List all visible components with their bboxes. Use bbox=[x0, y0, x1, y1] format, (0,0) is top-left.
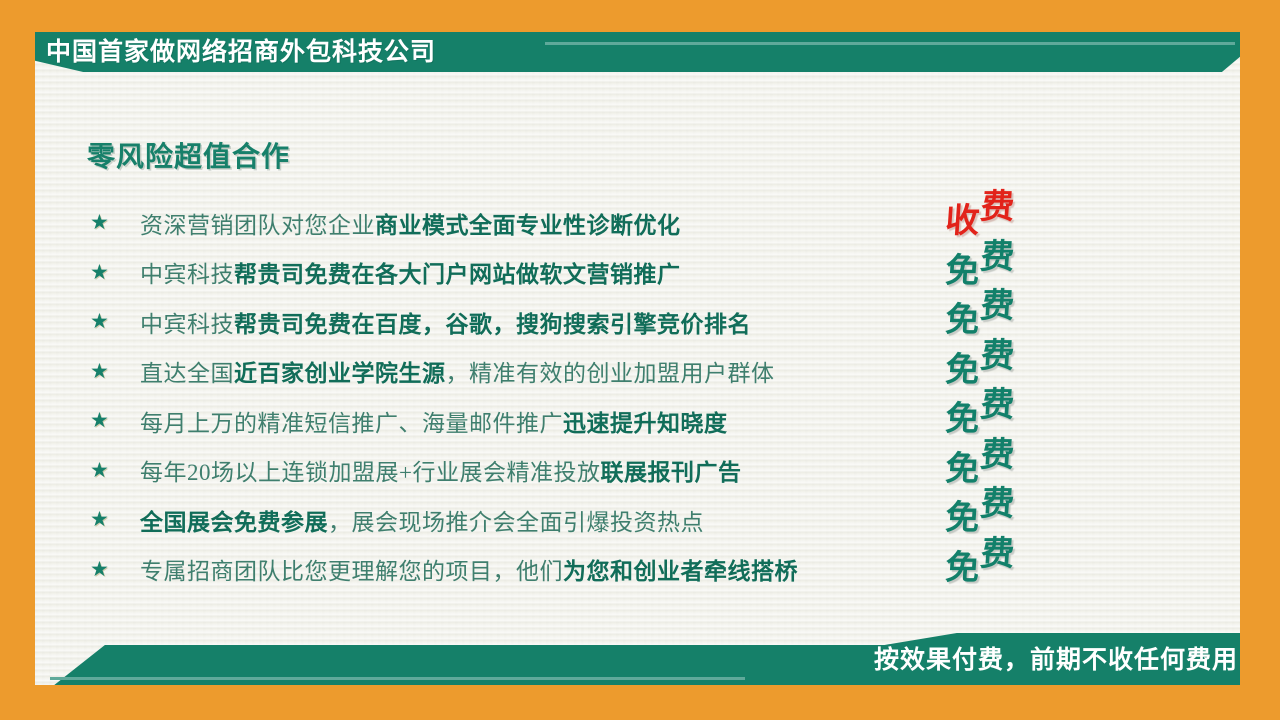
price-char-second: 费 bbox=[979, 191, 1015, 225]
benefit-text: 全国展会免费参展，展会现场推介会全面引爆投资热点 bbox=[140, 503, 704, 537]
price-char-second: 费 bbox=[979, 340, 1015, 374]
benefit-row: ★每月上万的精准短信推广、海量邮件推广迅速提升知晓度 bbox=[90, 396, 940, 446]
benefit-text-emphasis: 帮贵司免费在百度，谷歌，搜狗搜索引擎竞价排名 bbox=[234, 312, 751, 337]
benefits-list: ★资深营销团队对您企业商业模式全面专业性诊断优化★中宾科技帮贵司免费在各大门户网… bbox=[90, 198, 940, 594]
benefit-text-plain: 中宾科技 bbox=[140, 312, 234, 337]
benefit-text: 每月上万的精准短信推广、海量邮件推广迅速提升知晓度 bbox=[140, 404, 728, 438]
header-hairline-divider bbox=[545, 42, 1235, 45]
price-char-first: 免 bbox=[944, 304, 980, 338]
benefit-text-emphasis: 商业模式全面专业性诊断优化 bbox=[375, 213, 681, 238]
benefit-row: ★直达全国近百家创业学院生源，精准有效的创业加盟用户群体 bbox=[90, 347, 940, 397]
price-char-first: 免 bbox=[944, 403, 980, 437]
benefit-text: 专属招商团队比您更理解您的项目，他们为您和创业者牵线搭桥 bbox=[140, 552, 798, 586]
price-char-first: 收 bbox=[944, 205, 980, 239]
star-icon: ★ bbox=[90, 410, 140, 431]
benefit-text-plain: ，精准有效的创业加盟用户群体 bbox=[446, 361, 775, 386]
benefit-row: ★全国展会免费参展，展会现场推介会全面引爆投资热点 bbox=[90, 495, 940, 545]
star-icon: ★ bbox=[90, 262, 140, 283]
price-char-second: 费 bbox=[979, 488, 1015, 522]
benefit-text-plain: 中宾科技 bbox=[140, 262, 234, 287]
price-char-second: 费 bbox=[979, 389, 1015, 423]
benefit-text-plain: 每月上万的精准短信推广、海量邮件推广 bbox=[140, 411, 563, 436]
benefit-text-emphasis: 为您和创业者牵线搭桥 bbox=[563, 559, 798, 584]
price-badge-free: 免费 bbox=[945, 394, 1015, 428]
benefit-row: ★专属招商团队比您更理解您的项目，他们为您和创业者牵线搭桥 bbox=[90, 545, 940, 595]
star-icon: ★ bbox=[90, 311, 140, 332]
price-row: 免费 bbox=[946, 543, 1066, 593]
price-char-first: 免 bbox=[944, 552, 980, 586]
benefit-text: 中宾科技帮贵司免费在百度，谷歌，搜狗搜索引擎竞价排名 bbox=[140, 305, 751, 339]
price-char-second: 费 bbox=[979, 290, 1015, 324]
price-badge-free: 免费 bbox=[945, 295, 1015, 329]
header-title: 中国首家做网络招商外包科技公司 bbox=[46, 36, 436, 68]
benefit-text: 直达全国近百家创业学院生源，精准有效的创业加盟用户群体 bbox=[140, 354, 775, 388]
price-char-first: 免 bbox=[944, 354, 980, 388]
benefit-text: 每年20场以上连锁加盟展+行业展会精准投放联展报刊广告 bbox=[140, 453, 741, 487]
benefit-text: 中宾科技帮贵司免费在各大门户网站做软文营销推广 bbox=[140, 255, 681, 289]
footer-tagline: 按效果付费，前期不收任何费用 bbox=[874, 645, 1238, 675]
benefit-row: ★资深营销团队对您企业商业模式全面专业性诊断优化 bbox=[90, 198, 940, 248]
footer-hairline-divider bbox=[50, 677, 745, 680]
star-icon: ★ bbox=[90, 212, 140, 233]
star-icon: ★ bbox=[90, 559, 140, 580]
benefit-text-plain: 资深营销团队对您企业 bbox=[140, 213, 375, 238]
benefit-row: ★中宾科技帮贵司免费在百度，谷歌，搜狗搜索引擎竞价排名 bbox=[90, 297, 940, 347]
price-badge-free: 免费 bbox=[945, 345, 1015, 379]
benefit-text-emphasis: 帮贵司免费在各大门户网站做软文营销推广 bbox=[234, 262, 681, 287]
price-char-first: 免 bbox=[944, 502, 980, 536]
benefit-text-plain: 专属招商团队比您更理解您的项目，他们 bbox=[140, 559, 563, 584]
benefit-text-plain: 直达全国 bbox=[140, 361, 234, 386]
price-badge-free: 免费 bbox=[945, 246, 1015, 280]
price-char-second: 费 bbox=[979, 538, 1015, 572]
slide-root: 中国首家做网络招商外包科技公司 零风险超值合作 ★资深营销团队对您企业商业模式全… bbox=[0, 0, 1280, 720]
price-char-second: 费 bbox=[979, 439, 1015, 473]
section-title: 零风险超值合作 bbox=[87, 135, 290, 175]
benefit-text: 资深营销团队对您企业商业模式全面专业性诊断优化 bbox=[140, 206, 681, 240]
price-badge-paid: 收费 bbox=[945, 196, 1015, 230]
price-char-first: 免 bbox=[944, 255, 980, 289]
benefit-text-plain: 每年20场以上连锁加盟展+行业展会精准投放 bbox=[140, 460, 600, 485]
price-char-second: 费 bbox=[979, 241, 1015, 275]
benefit-row: ★每年20场以上连锁加盟展+行业展会精准投放联展报刊广告 bbox=[90, 446, 940, 496]
benefit-text-emphasis: 近百家创业学院生源 bbox=[234, 361, 446, 386]
price-column: 收费免费免费免费免费免费免费免费 bbox=[946, 196, 1066, 592]
benefit-text-emphasis: 迅速提升知晓度 bbox=[563, 411, 728, 436]
price-badge-free: 免费 bbox=[945, 543, 1015, 577]
star-icon: ★ bbox=[90, 460, 140, 481]
benefit-text-plain: ，展会现场推介会全面引爆投资热点 bbox=[328, 510, 704, 535]
star-icon: ★ bbox=[90, 361, 140, 382]
price-badge-free: 免费 bbox=[945, 444, 1015, 478]
benefit-text-emphasis: 联展报刊广告 bbox=[600, 460, 741, 485]
price-badge-free: 免费 bbox=[945, 493, 1015, 527]
benefit-text-emphasis: 全国展会免费参展 bbox=[140, 510, 328, 535]
star-icon: ★ bbox=[90, 509, 140, 530]
benefit-row: ★中宾科技帮贵司免费在各大门户网站做软文营销推广 bbox=[90, 248, 940, 298]
price-char-first: 免 bbox=[944, 453, 980, 487]
